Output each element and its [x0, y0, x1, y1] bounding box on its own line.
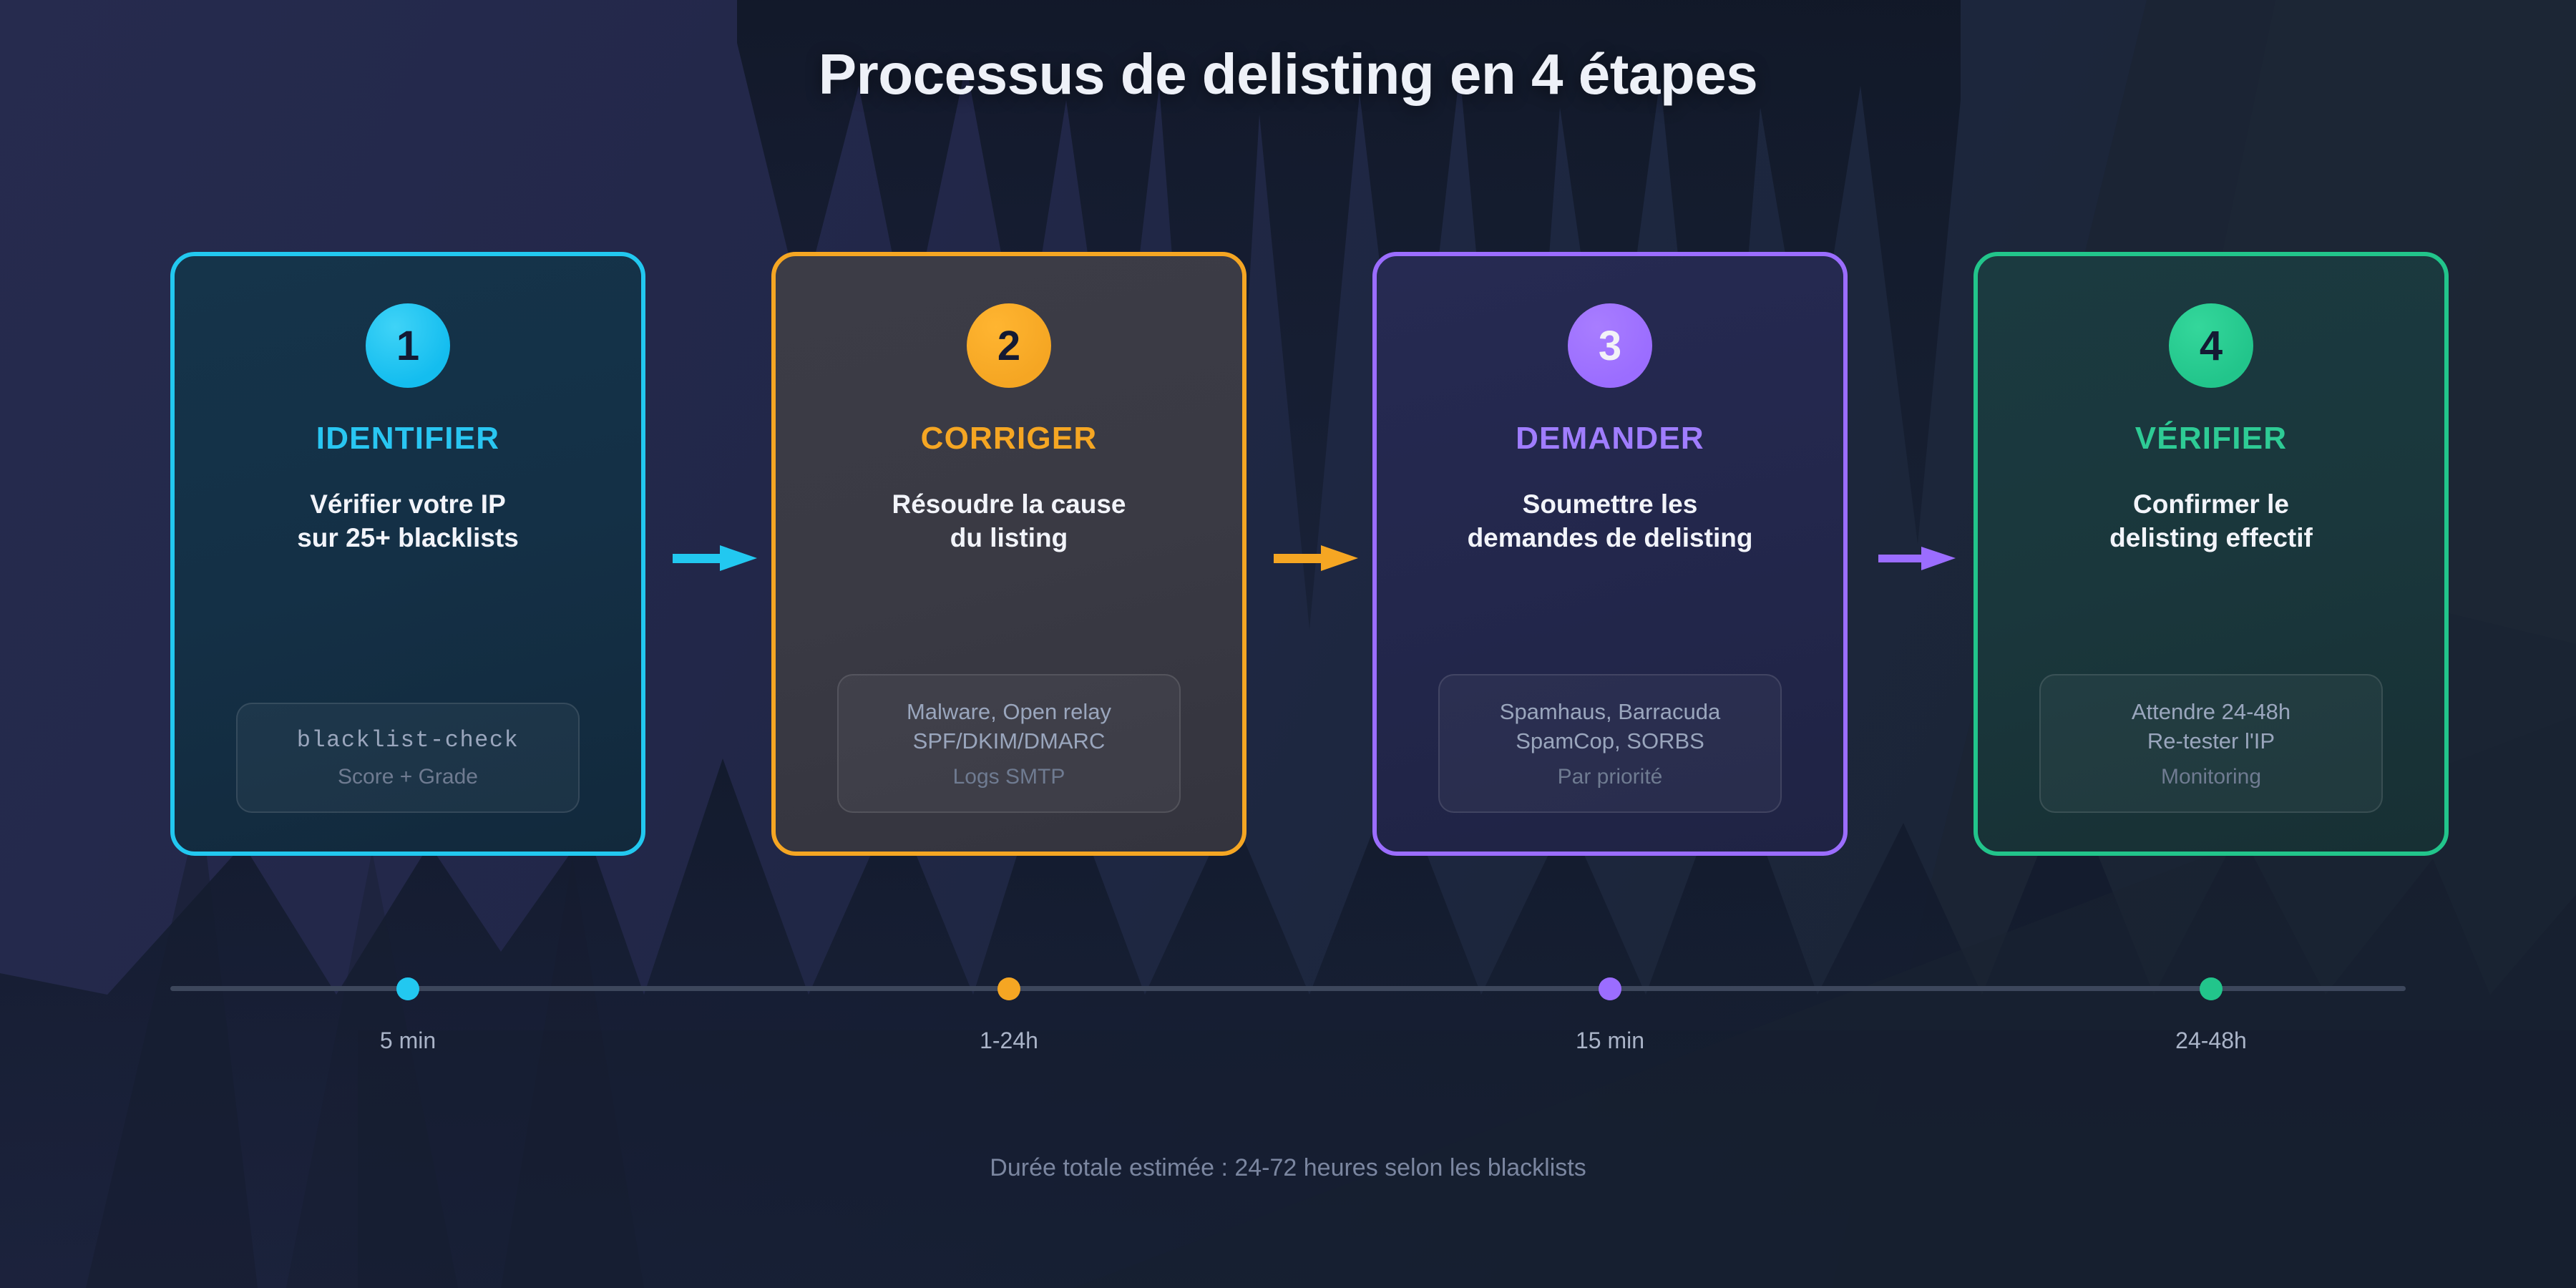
timeline-label-2: 1-24h [902, 1028, 1116, 1054]
timeline-dot-3[interactable] [1599, 977, 1621, 1000]
step-detail-line-1-1: blacklist-check [250, 726, 565, 756]
step-number-badge-1: 1 [366, 303, 450, 388]
step-card-2[interactable]: 2 CORRIGER Résoudre la cause du listing … [771, 252, 1246, 856]
step-number-badge-4: 4 [2169, 303, 2253, 388]
total-duration-note: Durée totale estimée : 24-72 heures selo… [0, 1154, 2576, 1182]
step-title-2: CORRIGER [921, 421, 1098, 457]
timeline-track [170, 986, 2406, 991]
step-card-4[interactable]: 4 VÉRIFIER Confirmer le delisting effect… [1974, 252, 2449, 856]
timeline-dot-4[interactable] [2200, 977, 2223, 1000]
step-description-1: Vérifier votre IP sur 25+ blacklists [273, 488, 543, 555]
step-description-4: Confirmer le delisting effectif [2085, 488, 2337, 555]
step-description-2: Résoudre la cause du listing [868, 488, 1151, 555]
step-card-3[interactable]: 3 DEMANDER Soumettre les demandes de del… [1372, 252, 1848, 856]
step-detail-sub-3: Par priorité [1453, 763, 1767, 791]
step-detail-line-3-2: SpamCop, SORBS [1453, 726, 1767, 756]
step-detail-sub-4: Monitoring [2054, 763, 2368, 791]
step-title-1: IDENTIFIER [316, 421, 499, 457]
step-title-3: DEMANDER [1516, 421, 1704, 457]
timeline: 5 min 1-24h 15 min 24-48h [0, 945, 2576, 1088]
step-detail-box-3: Spamhaus, Barracuda SpamCop, SORBS Par p… [1438, 674, 1782, 813]
page-title: Processus de delisting en 4 étapes [0, 42, 2576, 107]
timeline-label-4: 24-48h [2104, 1028, 2318, 1054]
step-number-badge-2: 2 [967, 303, 1051, 388]
step-detail-box-2: Malware, Open relay SPF/DKIM/DMARC Logs … [837, 674, 1181, 813]
step-detail-sub-2: Logs SMTP [852, 763, 1166, 791]
step-number-badge-3: 3 [1568, 303, 1652, 388]
timeline-label-1: 5 min [301, 1028, 515, 1054]
step-detail-sub-1: Score + Grade [250, 763, 565, 791]
step-detail-box-1: blacklist-check Score + Grade [236, 703, 580, 813]
step-detail-line-4-1: Attendre 24-48h [2054, 697, 2368, 726]
step-detail-line-4-2: Re-tester l'IP [2054, 726, 2368, 756]
arrow-step1-to-step2-icon [673, 544, 758, 572]
step-card-1[interactable]: 1 IDENTIFIER Vérifier votre IP sur 25+ b… [170, 252, 645, 856]
step-detail-line-2-2: SPF/DKIM/DMARC [852, 726, 1166, 756]
step-description-3: Soumettre les demandes de delisting [1443, 488, 1777, 555]
step-detail-line-3-1: Spamhaus, Barracuda [1453, 697, 1767, 726]
step-title-4: VÉRIFIER [2135, 421, 2288, 457]
arrow-step3-to-step4-icon [1878, 544, 1958, 572]
arrow-step2-to-step3-icon [1274, 544, 1360, 572]
timeline-dot-2[interactable] [997, 977, 1020, 1000]
step-detail-line-2-1: Malware, Open relay [852, 697, 1166, 726]
timeline-label-3: 15 min [1503, 1028, 1717, 1054]
step-detail-box-4: Attendre 24-48h Re-tester l'IP Monitorin… [2039, 674, 2383, 813]
timeline-dot-1[interactable] [396, 977, 419, 1000]
